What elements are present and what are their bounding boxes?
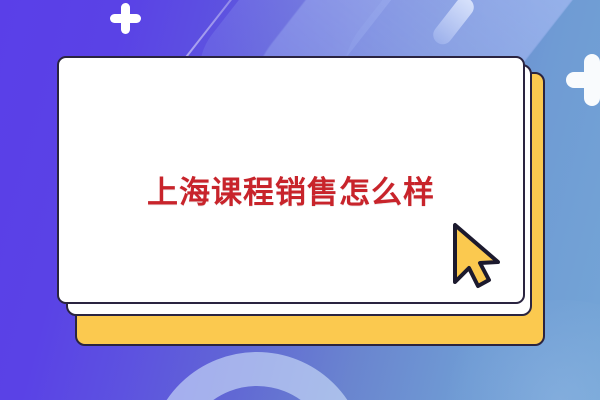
plus-icon-bar-vertical bbox=[121, 3, 130, 34]
plus-icon-bar-vertical bbox=[584, 54, 600, 106]
plus-icon-right bbox=[566, 54, 600, 106]
page-title: 上海课程销售怎么样 bbox=[147, 178, 435, 209]
slide-canvas: 上海课程销售怎么样 bbox=[0, 0, 600, 400]
plus-icon-top-left bbox=[110, 3, 141, 34]
card-front-white: 上海课程销售怎么样 bbox=[57, 56, 525, 304]
